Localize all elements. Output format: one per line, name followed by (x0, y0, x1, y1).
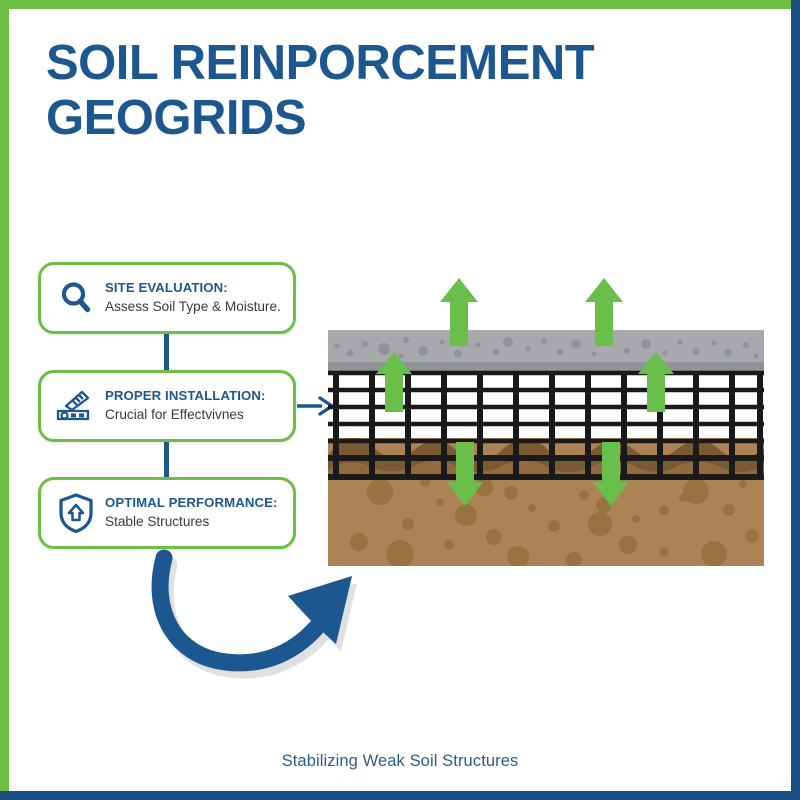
page-title: SOIL REINPORCEMENT GEOGRIDS (46, 36, 646, 146)
shield-up-arrow-icon (53, 490, 99, 536)
curved-process-arrow (120, 540, 390, 690)
geogrid-soil-cross-section (328, 330, 764, 566)
uplift-arrow-top-left-head (440, 278, 478, 338)
connector-card2-card3 (164, 442, 169, 477)
step-heading: OPTIMAL PERFORMANCE: (105, 495, 283, 512)
step-body: Stable Structures (105, 513, 283, 531)
connector-card1-card2 (164, 334, 169, 370)
swoop-arrow-tail (160, 558, 316, 663)
step-heading: PROPER INSTALLATION: (105, 388, 283, 405)
step-body: Assess Soil Type & Moisture. (105, 298, 283, 316)
frame-border-top-green (0, 0, 800, 9)
step-heading: SITE EVALUATION: (105, 280, 283, 297)
step-card-proper-installation[interactable]: PROPER INSTALLATION: Crucial for Effectv… (38, 370, 296, 442)
compactor-icon (53, 383, 99, 429)
step-body: Crucial for Effectvivnes (105, 406, 283, 424)
step-card-text: OPTIMAL PERFORMANCE: Stable Structures (105, 495, 283, 530)
uplift-arrows-above-surface (328, 278, 764, 338)
step-card-site-evaluation[interactable]: SITE EVALUATION: Assess Soil Type & Mois… (38, 262, 296, 334)
frame-border-bottom-blue (0, 791, 800, 800)
uplift-arrow-top-right-head (585, 278, 623, 338)
magnifier-icon (53, 275, 99, 321)
step-card-optimal-performance[interactable]: OPTIMAL PERFORMANCE: Stable Structures (38, 477, 296, 549)
step-card-text: PROPER INSTALLATION: Crucial for Effectv… (105, 388, 283, 423)
infographic-canvas: SOIL REINPORCEMENT GEOGRIDS SITE EVALUAT… (0, 0, 800, 800)
footer-caption: Stabilizing Weak Soil Structures (0, 752, 800, 771)
frame-border-left-green (0, 0, 9, 800)
step-card-text: SITE EVALUATION: Assess Soil Type & Mois… (105, 280, 283, 315)
frame-border-right-blue (791, 0, 800, 800)
